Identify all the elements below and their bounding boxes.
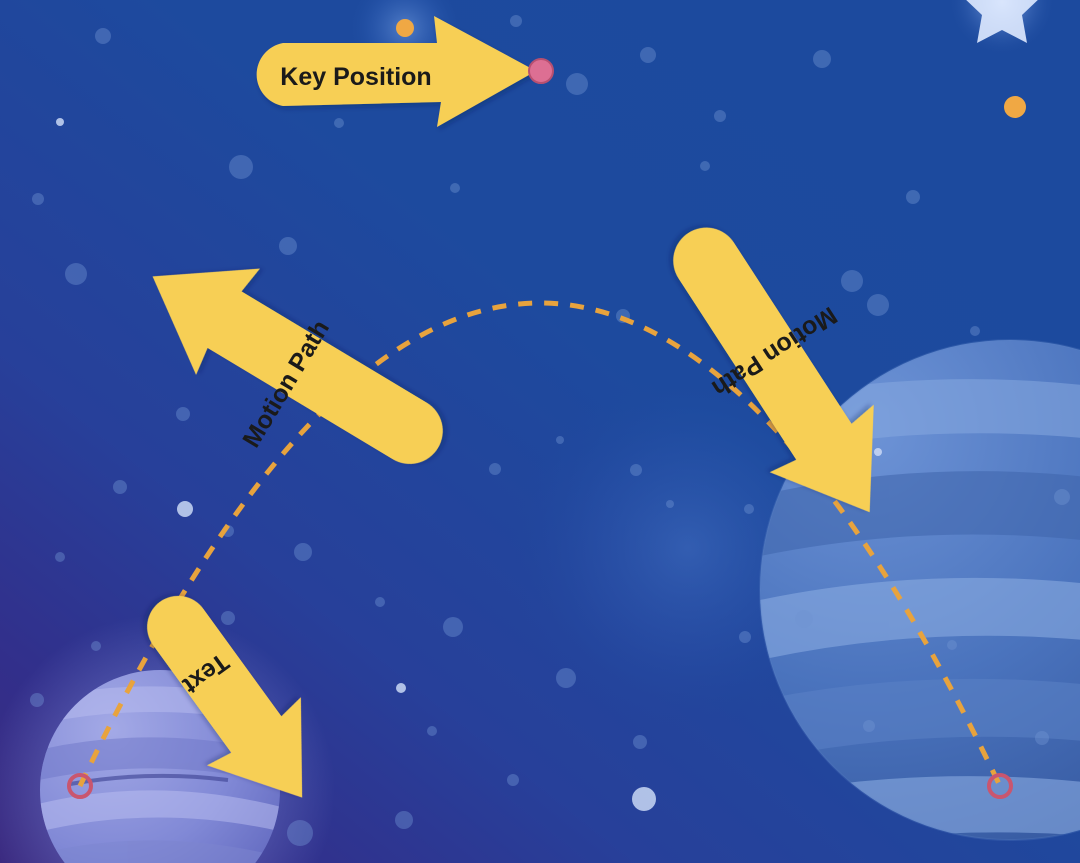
trajectory-apex-marker[interactable]	[529, 59, 553, 83]
illustration-canvas: Key Position Motion Path Motion Path Tex…	[0, 0, 1080, 863]
space-motion-path-illustration: Key Position Motion Path Motion Path Tex…	[0, 0, 1080, 863]
key-position-label: Key Position	[280, 63, 431, 91]
glow-dot-top-right	[1004, 96, 1026, 118]
